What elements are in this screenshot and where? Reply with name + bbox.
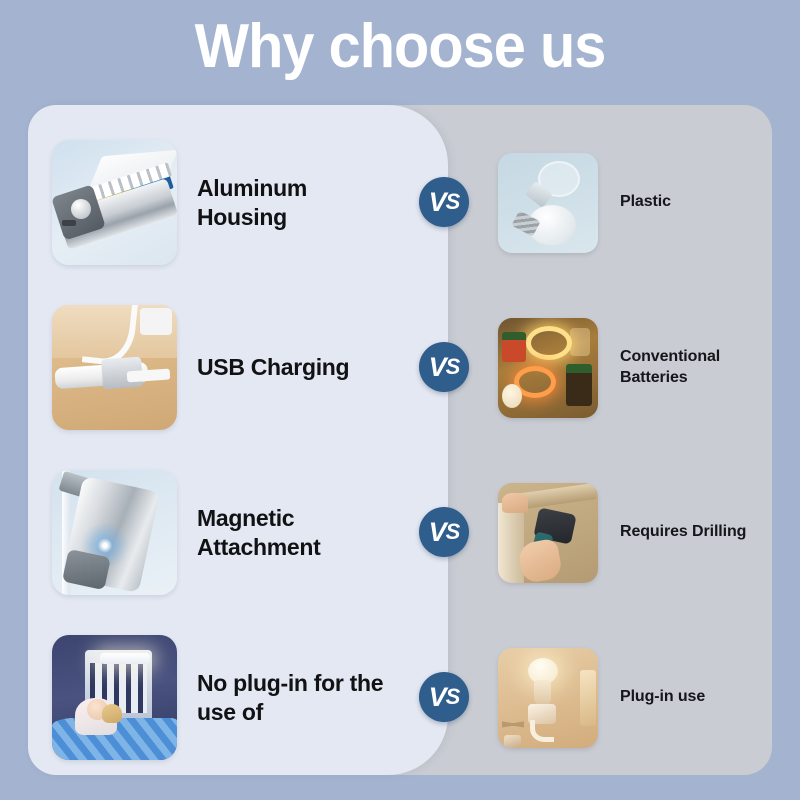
person-drilling-shelf-photo — [498, 483, 598, 583]
comparison-card: Aluminum Housing VS Plastic — [28, 105, 772, 775]
plug-in-wall-lamp-photo — [498, 648, 598, 748]
vs-badge: VS — [419, 507, 469, 557]
comparison-row: No plug-in for the use of VS Plug-in use — [28, 620, 772, 775]
aluminum-led-bar-light-photo — [52, 140, 177, 265]
child-sleeping-with-night-light-photo — [52, 635, 177, 760]
vs-badge: VS — [419, 672, 469, 722]
vs-letter-s: S — [446, 189, 460, 215]
competitor-feature-label: Requires Drilling — [620, 522, 770, 542]
page-title: Why choose us — [28, 14, 772, 79]
product-feature-2: USB Charging — [28, 290, 448, 445]
vs-badge: VS — [419, 177, 469, 227]
comparison-row: USB Charging VS Conventional Batteries — [28, 290, 772, 445]
comparison-row: Magnetic Attachment VS Requires Drilling — [28, 455, 772, 610]
product-feature-label: Magnetic Attachment — [197, 504, 397, 560]
comparison-row: Aluminum Housing VS Plastic — [28, 125, 772, 280]
plastic-light-bulbs-photo — [498, 153, 598, 253]
competitor-feature-3: Requires Drilling — [498, 455, 772, 610]
competitor-feature-2: Conventional Batteries — [498, 290, 772, 445]
vs-letter-v: V — [429, 682, 446, 713]
vs-letter-s: S — [446, 354, 460, 380]
batteries-and-fairy-lights-photo — [498, 318, 598, 418]
vs-letter-v: V — [429, 517, 446, 548]
vs-letter-v: V — [429, 352, 446, 383]
product-feature-label: USB Charging — [197, 353, 397, 381]
vs-letter-s: S — [446, 519, 460, 545]
product-feature-3: Magnetic Attachment — [28, 455, 448, 610]
comparison-rows: Aluminum Housing VS Plastic — [28, 105, 772, 775]
competitor-feature-1: Plastic — [498, 125, 772, 280]
magnetic-mount-light-photo — [52, 470, 177, 595]
product-feature-label: No plug-in for the use of — [197, 669, 397, 725]
product-feature-label: Aluminum Housing — [197, 174, 397, 230]
vs-letter-v: V — [429, 187, 446, 218]
usb-charging-cable-on-desk-photo — [52, 305, 177, 430]
competitor-feature-label: Conventional Batteries — [620, 347, 770, 388]
product-feature-4: No plug-in for the use of — [28, 620, 448, 775]
competitor-feature-label: Plug-in use — [620, 687, 770, 707]
vs-badge: VS — [419, 342, 469, 392]
product-feature-1: Aluminum Housing — [28, 125, 448, 280]
competitor-feature-4: Plug-in use — [498, 620, 772, 775]
vs-letter-s: S — [446, 684, 460, 710]
competitor-feature-label: Plastic — [620, 192, 770, 212]
